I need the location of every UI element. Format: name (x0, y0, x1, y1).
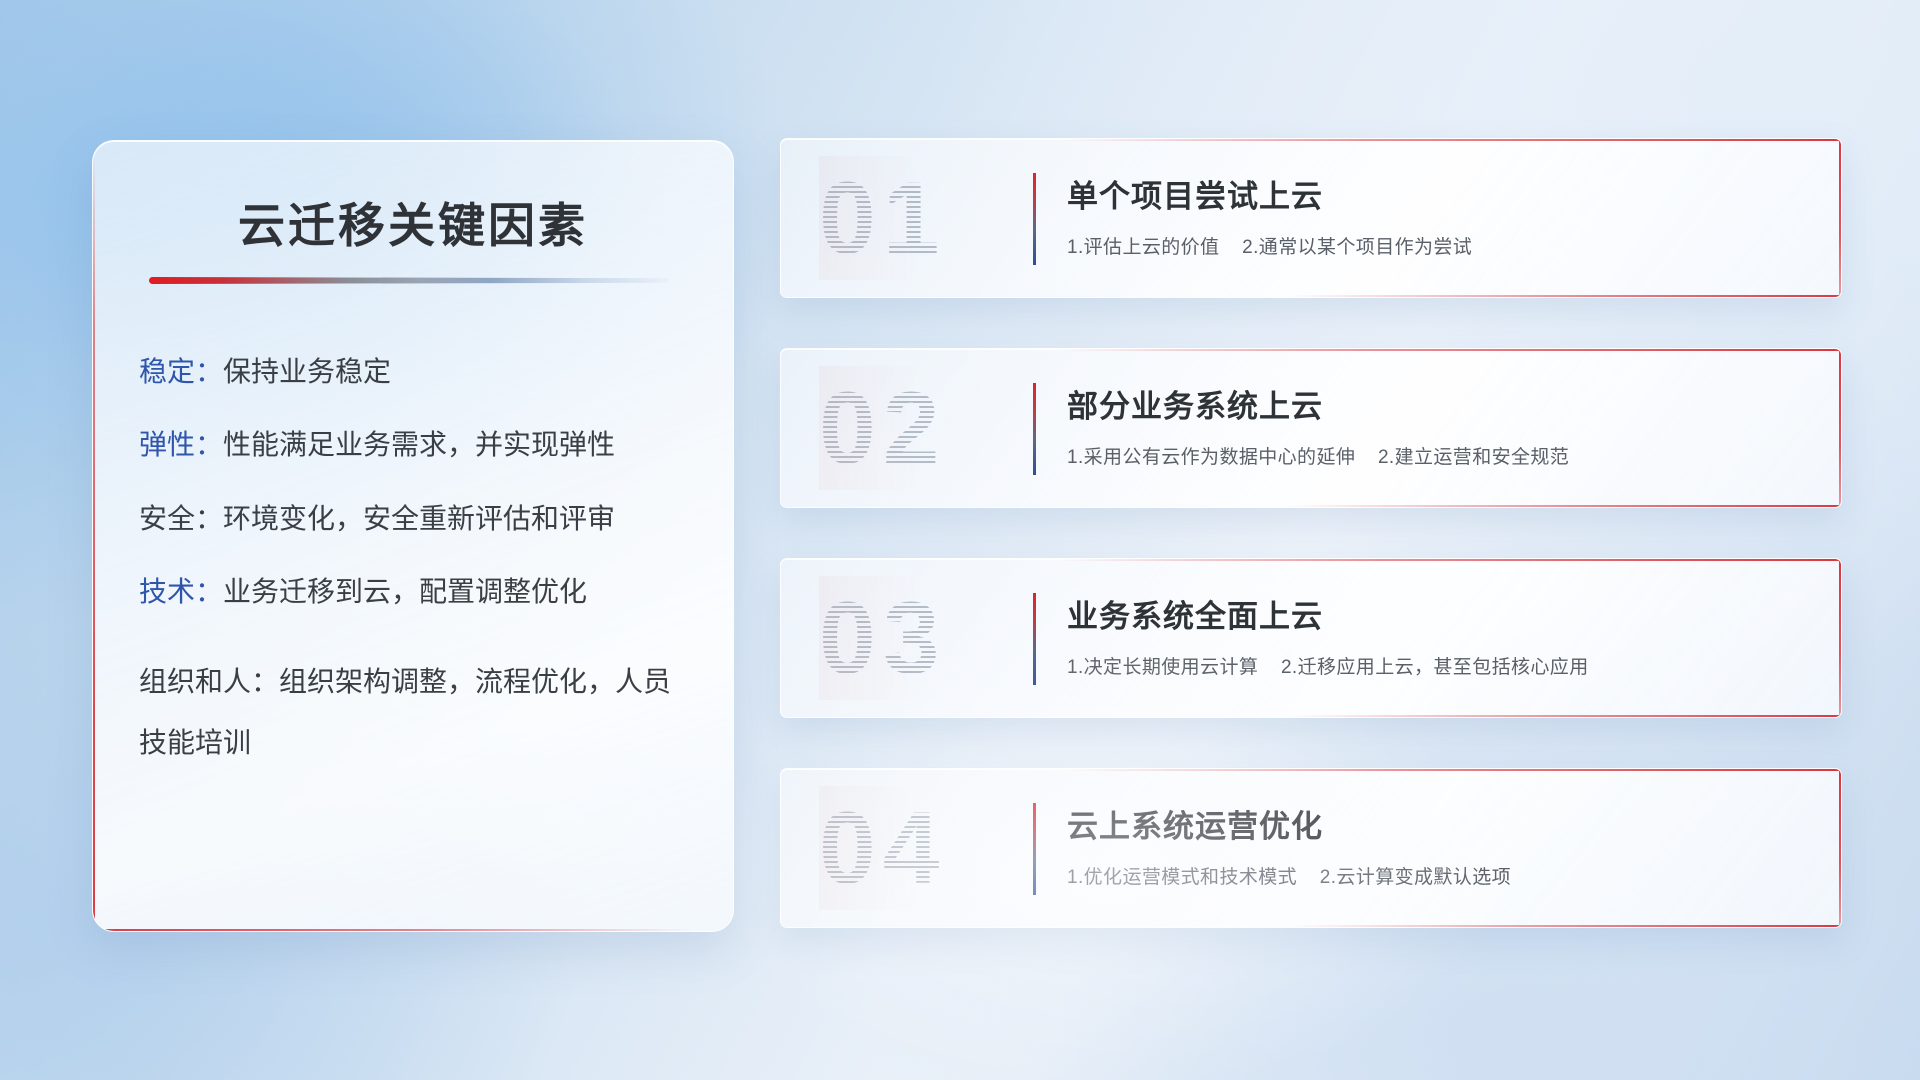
factor-text: 保持业务稳定 (223, 356, 391, 387)
stage-number-text: 04 (819, 786, 946, 910)
factor-label: 安全： (139, 503, 223, 534)
card-divider-line (1033, 173, 1036, 265)
slide-canvas: 云迁移关键因素 稳定：保持业务稳定 弹性：性能满足业务需求，并实现弹性 安全：环… (0, 0, 1920, 1080)
stage-number-03: 03 (819, 576, 1009, 700)
card-body: 单个项目尝试上云 1.评估上云的价值 2.通常以某个项目作为尝试 (1067, 171, 1807, 259)
card-right-accent-line (1839, 139, 1841, 297)
card-subtitle: 1.决定长期使用云计算 2.迁移应用上云，甚至包括核心应用 (1067, 652, 1807, 679)
card-right-accent-line (1839, 349, 1841, 507)
stage-number-text: 02 (819, 366, 946, 490)
card-top-accent-line (1057, 349, 1841, 351)
stage-number-text: 01 (819, 156, 946, 280)
card-title: 云上系统运营优化 (1067, 801, 1807, 846)
key-factors-list: 稳定：保持业务稳定 弹性：性能满足业务需求，并实现弹性 安全：环境变化，安全重新… (139, 357, 699, 817)
factor-label: 稳定： (139, 356, 223, 387)
factor-text: 环境变化，安全重新评估和评审 (223, 503, 615, 534)
list-item: 组织和人：组织架构调整，流程优化，人员技能培训 (139, 651, 699, 773)
card-divider-line (1033, 383, 1036, 475)
card-bottom-accent-line (1290, 715, 1841, 717)
card-bottom-accent-line (1290, 505, 1841, 507)
card-subtitle: 1.评估上云的价值 2.通常以某个项目作为尝试 (1067, 232, 1807, 259)
list-item: 稳定：保持业务稳定 (139, 357, 699, 386)
stage-card-04[interactable]: 04 云上系统运营优化 1.优化运营模式和技术模式 2.云计算变成默认选项 (780, 768, 1842, 928)
key-factors-panel: 云迁移关键因素 稳定：保持业务稳定 弹性：性能满足业务需求，并实现弹性 安全：环… (92, 140, 734, 932)
stage-number-04: 04 (819, 786, 1009, 910)
factor-label: 弹性： (139, 429, 223, 460)
factor-text: 性能满足业务需求，并实现弹性 (223, 429, 615, 460)
card-body: 业务系统全面上云 1.决定长期使用云计算 2.迁移应用上云，甚至包括核心应用 (1067, 591, 1807, 679)
stage-number-02: 02 (819, 366, 1009, 490)
card-right-accent-line (1839, 769, 1841, 927)
stage-number-text: 03 (819, 576, 946, 700)
card-right-accent-line (1839, 559, 1841, 717)
card-subtitle: 1.采用公有云作为数据中心的延伸 2.建立运营和安全规范 (1067, 442, 1807, 469)
factor-text: 业务迁移到云，配置调整优化 (223, 576, 587, 607)
card-title: 业务系统全面上云 (1067, 591, 1807, 636)
stage-card-01[interactable]: 01 单个项目尝试上云 1.评估上云的价值 2.通常以某个项目作为尝试 (780, 138, 1842, 298)
card-body: 部分业务系统上云 1.采用公有云作为数据中心的延伸 2.建立运营和安全规范 (1067, 381, 1807, 469)
list-item: 弹性：性能满足业务需求，并实现弹性 (139, 430, 699, 459)
card-top-accent-line (1057, 139, 1841, 141)
stage-card-03[interactable]: 03 业务系统全面上云 1.决定长期使用云计算 2.迁移应用上云，甚至包括核心应… (780, 558, 1842, 718)
factor-label: 组织和人： (139, 666, 279, 697)
stage-number-01: 01 (819, 156, 1009, 280)
list-item: 安全：环境变化，安全重新评估和评审 (139, 504, 699, 533)
factor-label: 技术： (139, 576, 223, 607)
page-title: 云迁移关键因素 (93, 187, 733, 256)
card-top-accent-line (1057, 559, 1841, 561)
title-underline-gradient (149, 277, 669, 284)
card-bottom-accent-line (1290, 925, 1841, 927)
card-title: 单个项目尝试上云 (1067, 171, 1807, 216)
card-top-accent-line (1057, 769, 1841, 771)
card-divider-line (1033, 593, 1036, 685)
panel-bottom-accent-line (93, 929, 693, 931)
stage-cards-list: 01 单个项目尝试上云 1.评估上云的价值 2.通常以某个项目作为尝试 02 部… (780, 138, 1842, 978)
card-bottom-accent-line (1290, 295, 1841, 297)
card-body: 云上系统运营优化 1.优化运营模式和技术模式 2.云计算变成默认选项 (1067, 801, 1807, 889)
card-subtitle: 1.优化运营模式和技术模式 2.云计算变成默认选项 (1067, 862, 1807, 889)
list-item: 技术：业务迁移到云，配置调整优化 (139, 577, 699, 606)
panel-left-accent-line (93, 155, 95, 931)
card-divider-line (1033, 803, 1036, 895)
stage-card-02[interactable]: 02 部分业务系统上云 1.采用公有云作为数据中心的延伸 2.建立运营和安全规范 (780, 348, 1842, 508)
card-title: 部分业务系统上云 (1067, 381, 1807, 426)
